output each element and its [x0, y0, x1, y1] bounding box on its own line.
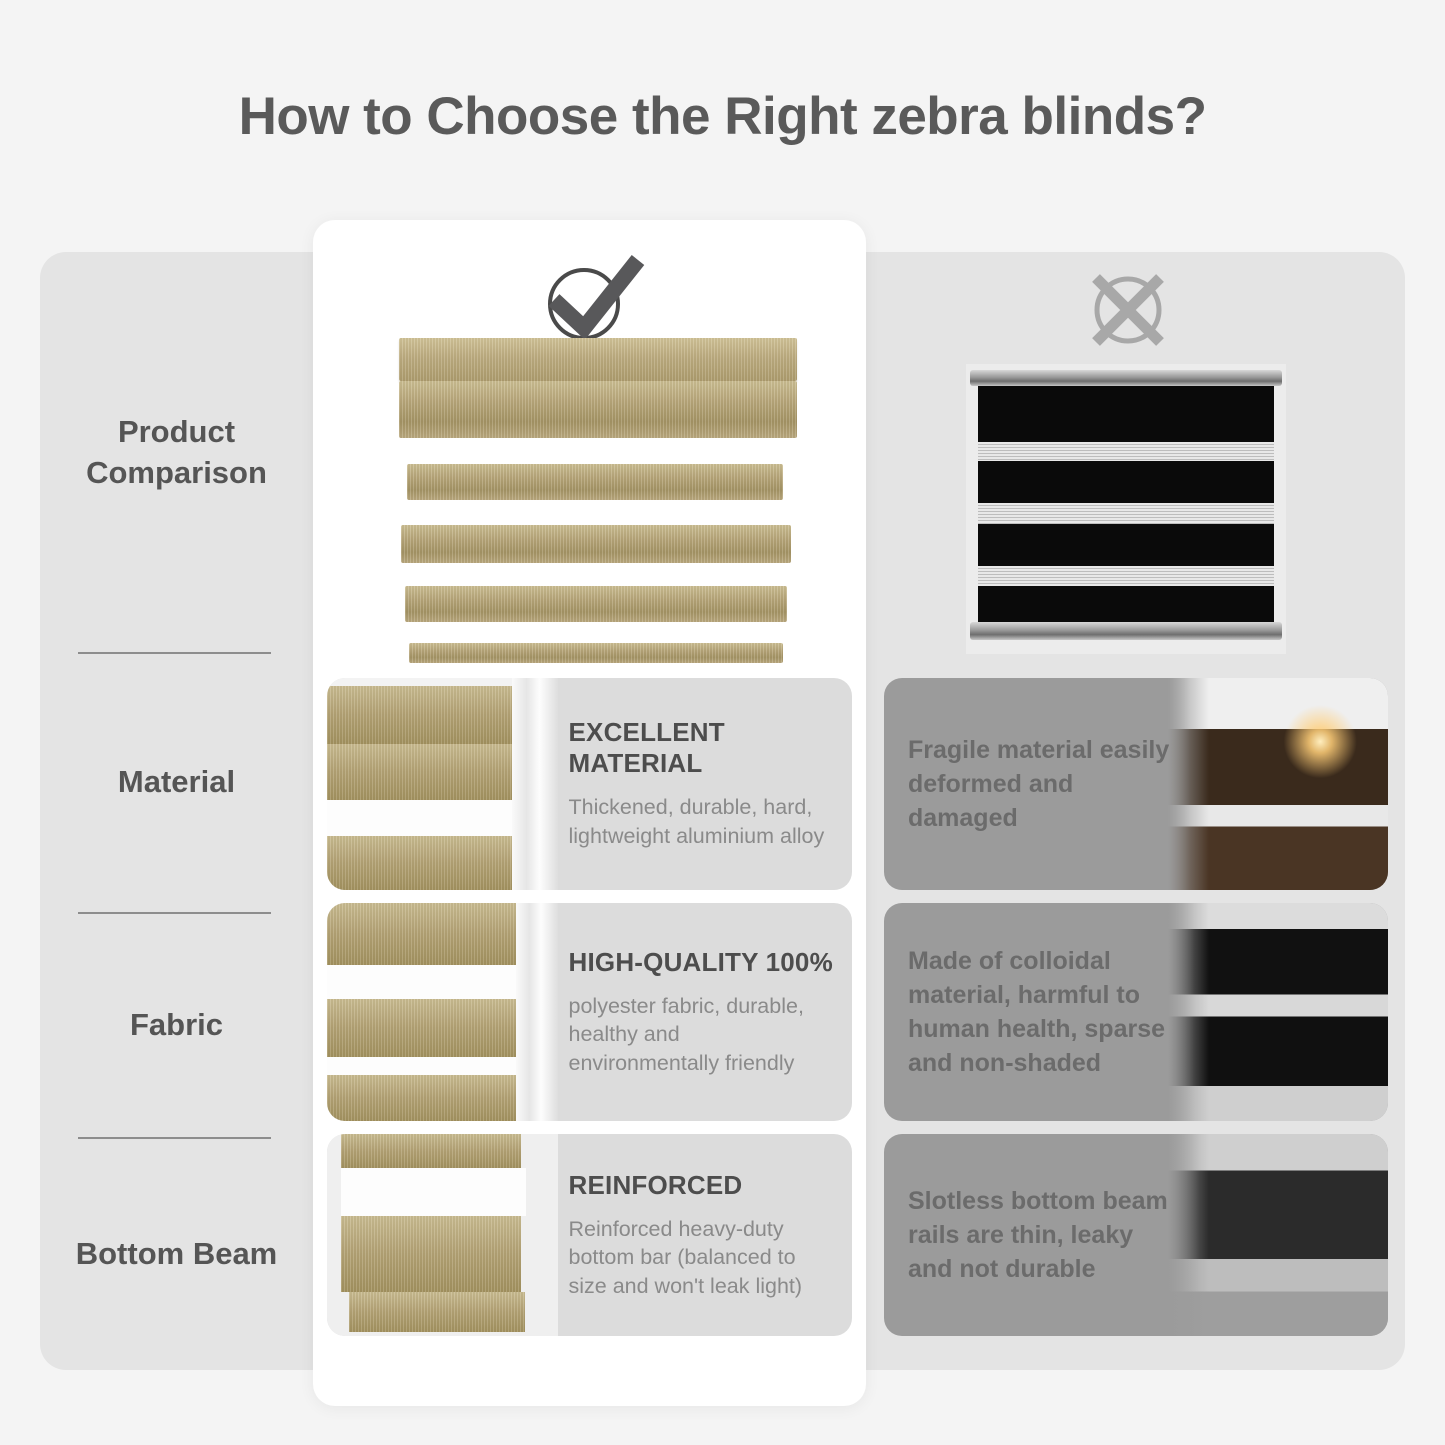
bottom-beam-image-good [327, 1134, 558, 1336]
material-image-bad [1146, 678, 1388, 890]
blind-slat [399, 381, 797, 438]
bottom-rail [970, 622, 1282, 640]
fabric-text-bad: Made of colloidal material, harmful to h… [908, 903, 1170, 1121]
headrail [399, 338, 797, 381]
blind-band-light [978, 566, 1274, 586]
card-title: REINFORCED [569, 1170, 835, 1201]
blind-slat [401, 525, 791, 563]
hero-image-good-blind [383, 338, 797, 663]
card-description: polyester fabric, durable, healthy and e… [569, 992, 835, 1078]
fabric-image-good [327, 903, 558, 1121]
blind-band-light [978, 442, 1274, 461]
blind-band-dark [978, 386, 1274, 442]
blind-slat [405, 586, 787, 622]
infographic-root: How to Choose the Right zebra blinds? Pr… [0, 0, 1445, 1445]
check-circle-icon [522, 252, 662, 344]
row-label-column: Product Comparison Material Fabric Botto… [40, 252, 313, 1370]
row-label-material: Material [40, 652, 313, 912]
material-text-good: EXCELLENT MATERIAL Thickened, durable, h… [569, 678, 835, 890]
card-description: Slotless bottom beam rails are thin, lea… [908, 1184, 1170, 1286]
feature-card-bad-fabric: Made of colloidal material, harmful to h… [884, 903, 1388, 1121]
row-label-fabric: Fabric [40, 912, 313, 1137]
card-title: EXCELLENT MATERIAL [569, 717, 835, 779]
feature-card-good-fabric: HIGH-QUALITY 100% polyester fabric, dura… [327, 903, 852, 1121]
blind-band-dark [978, 586, 1274, 622]
bottom-beam-image-bad [1146, 1134, 1388, 1336]
material-image-good [327, 678, 558, 890]
cross-circle-icon [1078, 268, 1178, 353]
page-title: How to Choose the Right zebra blinds? [0, 86, 1445, 147]
card-description: Fragile material easily deformed and dam… [908, 733, 1170, 835]
blind-slat [407, 464, 783, 500]
blind-bottom-bar [409, 643, 783, 663]
feature-card-good-material: EXCELLENT MATERIAL Thickened, durable, h… [327, 678, 852, 890]
material-text-bad: Fragile material easily deformed and dam… [908, 678, 1170, 890]
hero-image-bad-blind [966, 364, 1286, 654]
row-label-bottom-beam: Bottom Beam [40, 1137, 313, 1370]
card-title: HIGH-QUALITY 100% [569, 947, 835, 978]
blind-band-dark [978, 461, 1274, 503]
feature-card-bad-bottom-beam: Slotless bottom beam rails are thin, lea… [884, 1134, 1388, 1336]
card-description: Made of colloidal material, harmful to h… [908, 944, 1170, 1080]
fabric-image-bad [1146, 903, 1388, 1121]
top-rail [970, 370, 1282, 386]
fabric-text-good: HIGH-QUALITY 100% polyester fabric, dura… [569, 903, 835, 1121]
bottom-beam-text-good: REINFORCED Reinforced heavy-duty bottom … [569, 1134, 835, 1336]
feature-card-bad-material: Fragile material easily deformed and dam… [884, 678, 1388, 890]
row-label-product-comparison: Product Comparison [40, 252, 313, 652]
card-description: Thickened, durable, hard, lightweight al… [569, 793, 835, 850]
blind-band-light [978, 503, 1274, 524]
blind-band-dark [978, 524, 1274, 566]
bottom-beam-text-bad: Slotless bottom beam rails are thin, lea… [908, 1134, 1170, 1336]
feature-card-good-bottom-beam: REINFORCED Reinforced heavy-duty bottom … [327, 1134, 852, 1336]
card-description: Reinforced heavy-duty bottom bar (balanc… [569, 1215, 835, 1301]
